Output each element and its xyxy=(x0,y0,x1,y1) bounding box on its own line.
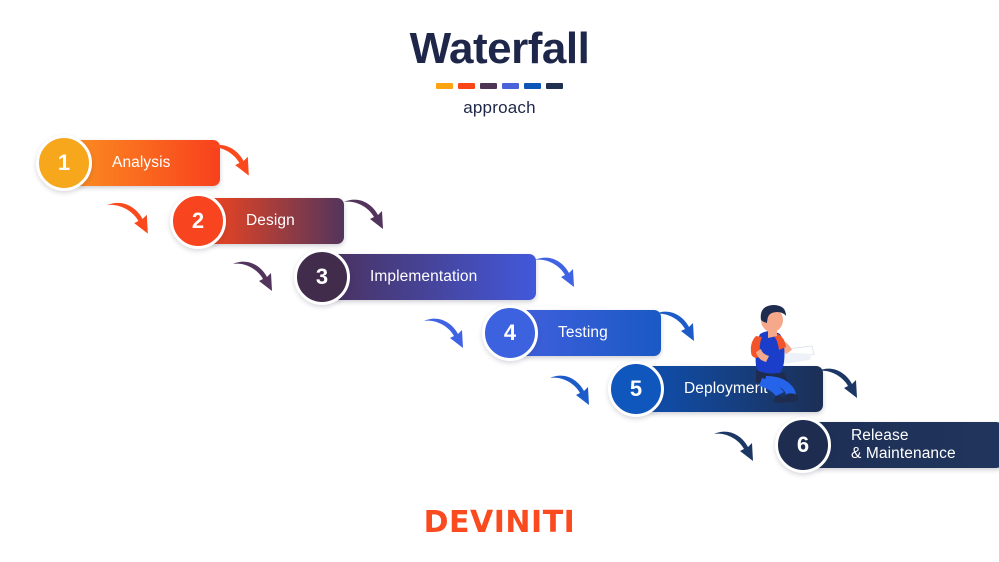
step-3[interactable]: Implementation3 xyxy=(294,254,536,300)
step-3-number: 3 xyxy=(316,264,328,290)
step-1[interactable]: Analysis1 xyxy=(36,140,220,186)
logo-text: DEVINITI xyxy=(424,505,576,540)
step-3-label: Implementation xyxy=(332,268,477,286)
step-6-label: Release & Maintenance xyxy=(813,427,956,464)
step-4-number-badge[interactable]: 4 xyxy=(482,305,538,361)
accent-dash-1 xyxy=(436,83,453,89)
page-subtitle: approach xyxy=(0,98,999,118)
step-2-number-badge[interactable]: 2 xyxy=(170,193,226,249)
arrow-3-to-4-upper-icon xyxy=(533,254,581,294)
person-sitting-icon xyxy=(726,304,818,404)
accent-dash-3 xyxy=(480,83,497,89)
arrow-2-to-3-upper-icon xyxy=(342,196,390,236)
step-4[interactable]: Testing4 xyxy=(482,310,661,356)
step-3-bar[interactable]: Implementation xyxy=(332,254,536,300)
arrow-4-to-5-lower-icon xyxy=(548,372,596,412)
step-5-number-badge[interactable]: 5 xyxy=(608,361,664,417)
step-4-bar[interactable]: Testing xyxy=(520,310,661,356)
page-title: Waterfall xyxy=(0,26,999,72)
arrow-1-to-2-lower-icon xyxy=(104,199,156,241)
header: Waterfall approach xyxy=(0,26,999,118)
arrow-5-to-6-lower-icon xyxy=(712,428,760,468)
step-2-number: 2 xyxy=(192,208,204,234)
accent-dash-2 xyxy=(458,83,475,89)
waterfall-diagram-canvas: Waterfall approach Analysis1Design2Imple… xyxy=(0,0,999,562)
accent-dash-6 xyxy=(546,83,563,89)
arrow-4-to-5-upper-icon xyxy=(653,308,701,348)
accent-dash-row xyxy=(0,83,999,89)
step-6-number: 6 xyxy=(797,432,809,458)
step-4-number: 4 xyxy=(504,320,516,346)
step-1-number-badge[interactable]: 1 xyxy=(36,135,92,191)
step-6[interactable]: Release & Maintenance6 xyxy=(775,422,999,468)
step-5-number: 5 xyxy=(630,376,642,402)
arrow-2-to-3-lower-icon xyxy=(231,258,279,298)
arrow-3-to-4-lower-icon xyxy=(422,315,470,355)
person-illustration xyxy=(726,304,818,404)
arrow-1-to-2-upper-icon xyxy=(205,141,257,183)
accent-dash-5 xyxy=(524,83,541,89)
step-6-number-badge[interactable]: 6 xyxy=(775,417,831,473)
step-2-bar[interactable]: Design xyxy=(208,198,344,244)
step-6-bar[interactable]: Release & Maintenance xyxy=(813,422,999,468)
step-3-number-badge[interactable]: 3 xyxy=(294,249,350,305)
step-2[interactable]: Design2 xyxy=(170,198,344,244)
brand-logo: DEVINITI xyxy=(0,505,999,540)
accent-dash-4 xyxy=(502,83,519,89)
step-1-number: 1 xyxy=(58,150,70,176)
arrow-5-to-6-upper-icon xyxy=(816,365,864,405)
step-1-bar[interactable]: Analysis xyxy=(74,140,220,186)
